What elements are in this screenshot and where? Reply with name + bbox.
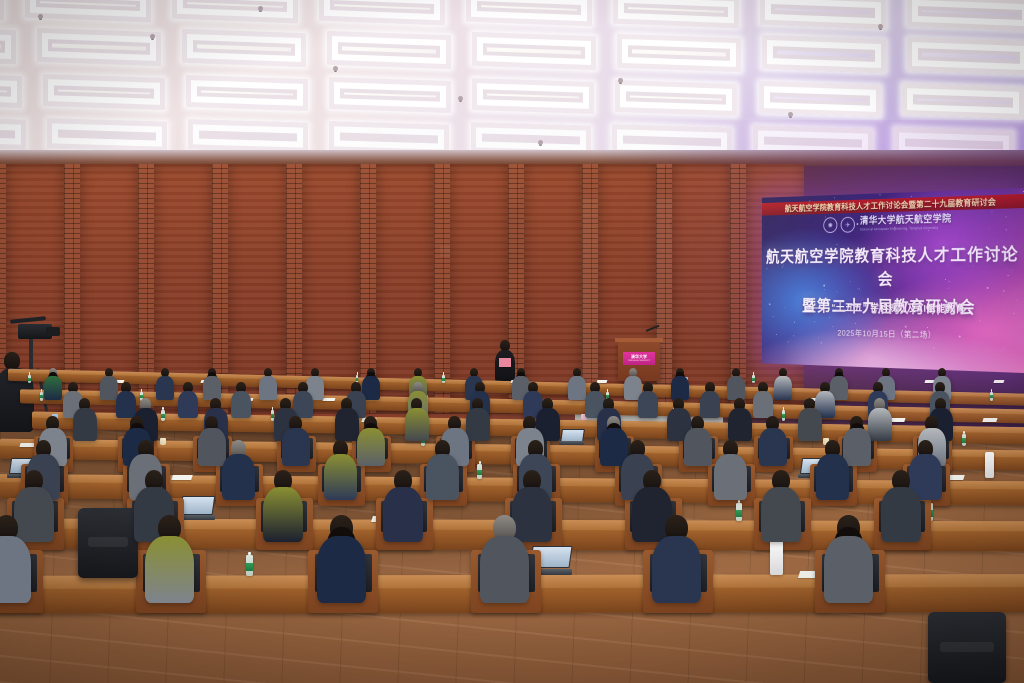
audience-member [684, 416, 712, 468]
audience-member [568, 368, 586, 401]
audience-member [652, 515, 701, 608]
audience-member [728, 398, 752, 443]
person-torso [798, 408, 822, 440]
water-bottle [40, 392, 43, 401]
audience-member [824, 515, 873, 608]
person-torso [728, 408, 752, 440]
audience-member [145, 515, 194, 608]
person-torso [317, 536, 366, 603]
audience-member [44, 368, 62, 401]
audience-member [638, 382, 658, 420]
person-torso [203, 376, 221, 400]
water-bottle [477, 464, 482, 479]
audience-member [335, 398, 359, 443]
laptop-screen [180, 496, 215, 515]
audience-member [868, 398, 892, 443]
audience-member [761, 470, 801, 546]
audience-member [282, 416, 310, 468]
person-torso [727, 376, 745, 400]
water-bottle [962, 434, 966, 446]
person-torso [73, 408, 97, 440]
person-torso [426, 454, 459, 499]
audience-member [324, 440, 357, 503]
audience-member [73, 398, 97, 443]
laptop-keyboard[interactable] [559, 441, 585, 445]
water-bottle [442, 375, 445, 383]
audience-member [0, 515, 31, 608]
person-torso [824, 536, 873, 603]
person-torso [263, 487, 303, 541]
laptop-screen [560, 429, 585, 442]
audience-member [881, 470, 921, 546]
person-torso [145, 536, 194, 603]
audience-member [816, 440, 849, 503]
water-bottle [28, 375, 31, 383]
audience-member [714, 440, 747, 503]
person-torso [156, 376, 174, 400]
backpack [78, 508, 138, 578]
audience-member [203, 368, 221, 401]
person-torso [700, 391, 720, 419]
person-torso [0, 536, 31, 603]
audience-member [357, 416, 385, 468]
person-torso [652, 536, 701, 603]
person-torso [178, 391, 198, 419]
audience-member [727, 368, 745, 401]
water-bottle [246, 555, 253, 577]
person-torso [868, 408, 892, 440]
person-torso [335, 408, 359, 440]
person-torso [568, 376, 586, 400]
audience-member [774, 368, 792, 401]
laptop[interactable] [561, 429, 582, 445]
person-torso [753, 391, 773, 419]
person-torso [759, 428, 787, 466]
thermos-flask [985, 452, 994, 478]
person-torso [881, 487, 921, 541]
audience-member [259, 368, 277, 401]
document-paper [891, 418, 906, 422]
person-torso [774, 376, 792, 400]
person-torso [714, 454, 747, 499]
person-torso [357, 428, 385, 466]
audience-member [480, 515, 529, 608]
audience-member [671, 368, 689, 401]
document-paper [982, 418, 997, 422]
audience-member [798, 398, 822, 443]
person-torso [684, 428, 712, 466]
backpack [928, 612, 1006, 683]
person-torso [466, 408, 490, 440]
document-paper [993, 380, 1004, 383]
audience-member [178, 382, 198, 420]
person-torso [480, 536, 529, 603]
document-paper [323, 398, 336, 401]
audience-member [753, 382, 773, 420]
person-torso [282, 428, 310, 466]
audience-member [317, 515, 366, 608]
audience-member [383, 470, 423, 546]
audience-member [466, 398, 490, 443]
person-torso [638, 391, 658, 419]
water-bottle [161, 410, 165, 421]
audience-member [700, 382, 720, 420]
audience-member [263, 470, 303, 546]
conference-hall-photo: 航天航空学院教育科技人才工作讨论会暨第二十九届教育研讨会 ✺ ✈ 清华大学航天航… [0, 0, 1024, 683]
audience-member [405, 398, 429, 443]
audience-member [156, 368, 174, 401]
person-torso [324, 454, 357, 499]
audience-member [222, 440, 255, 503]
audience-member [231, 382, 251, 420]
person-torso [671, 376, 689, 400]
person-torso [761, 487, 801, 541]
person-torso [44, 376, 62, 400]
person-torso [222, 454, 255, 499]
audience-seating-area [0, 0, 1024, 683]
water-bottle [736, 503, 742, 521]
audience-member [426, 440, 459, 503]
person-torso [816, 454, 849, 499]
person-torso [259, 376, 277, 400]
water-bottle [990, 392, 993, 401]
person-torso [231, 391, 251, 419]
audience-member [759, 416, 787, 468]
person-torso [405, 408, 429, 440]
person-torso [383, 487, 423, 541]
